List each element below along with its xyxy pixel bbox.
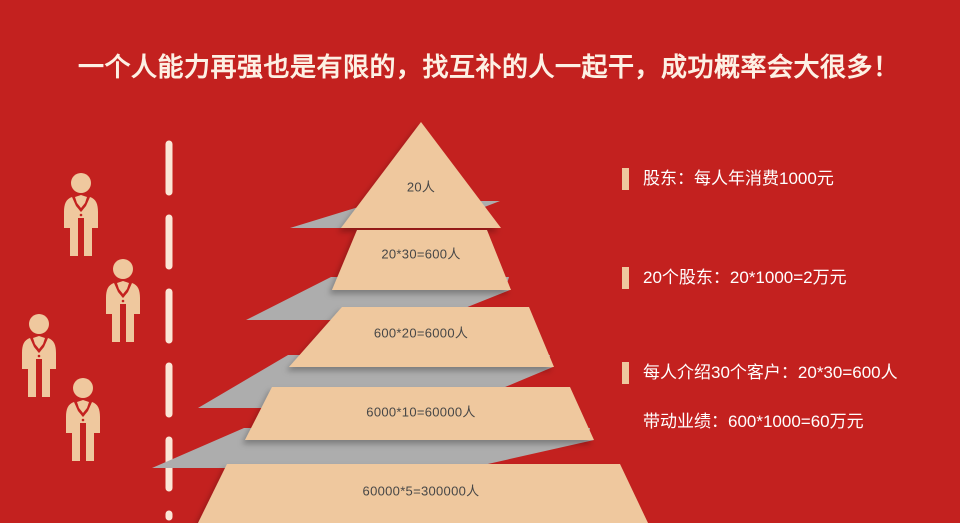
shadow-wedge-4 <box>152 428 594 468</box>
annotation-text-1: 股东：每人年消费1000元 <box>643 167 834 191</box>
page-title: 一个人能力再强也是有限的，找互补的人一起干，成功概率会大很多！ <box>78 50 900 84</box>
businessman-icon-3 <box>16 313 62 397</box>
dashed-divider <box>164 138 174 523</box>
pyramid-tier-1[interactable] <box>341 122 501 228</box>
shadow-wedge-2 <box>246 277 510 320</box>
pyramid-tier-label-4: 6000*10=60000人 <box>366 402 475 421</box>
businessman-icon-4 <box>60 377 106 461</box>
annotation-block-4[interactable]: 带动业绩：600*1000=60万元 <box>622 410 864 434</box>
pyramid-tier-label-3: 600*20=6000人 <box>374 323 468 342</box>
annotation-block-3[interactable]: 每人介绍30个客户：20*30=600人 <box>622 361 898 385</box>
shadow-wedge-3 <box>198 355 553 408</box>
annotation-text-4: 带动业绩：600*1000=60万元 <box>643 410 864 434</box>
annotation-bar-icon-1 <box>622 168 629 190</box>
annotation-block-1[interactable]: 股东：每人年消费1000元 <box>622 167 834 191</box>
shadow-wedge-1 <box>290 201 500 228</box>
annotation-block-2[interactable]: 20个股东：20*1000=2万元 <box>622 266 847 290</box>
pyramid-tier-label-1: 20人 <box>407 177 435 196</box>
annotation-text-2: 20个股东：20*1000=2万元 <box>643 266 847 290</box>
pyramid-tier-label-5: 60000*5=300000人 <box>363 481 480 500</box>
annotation-text-3: 每人介绍30个客户：20*30=600人 <box>643 361 898 385</box>
businessman-icon-2 <box>100 258 146 342</box>
annotation-bar-icon-2 <box>622 267 629 289</box>
slide-canvas: 一个人能力再强也是有限的，找互补的人一起干，成功概率会大很多！ <box>0 0 960 523</box>
businessman-icon-1 <box>58 172 104 256</box>
pyramid-tier-label-2: 20*30=600人 <box>381 244 460 263</box>
annotation-bar-icon-3 <box>622 362 629 384</box>
